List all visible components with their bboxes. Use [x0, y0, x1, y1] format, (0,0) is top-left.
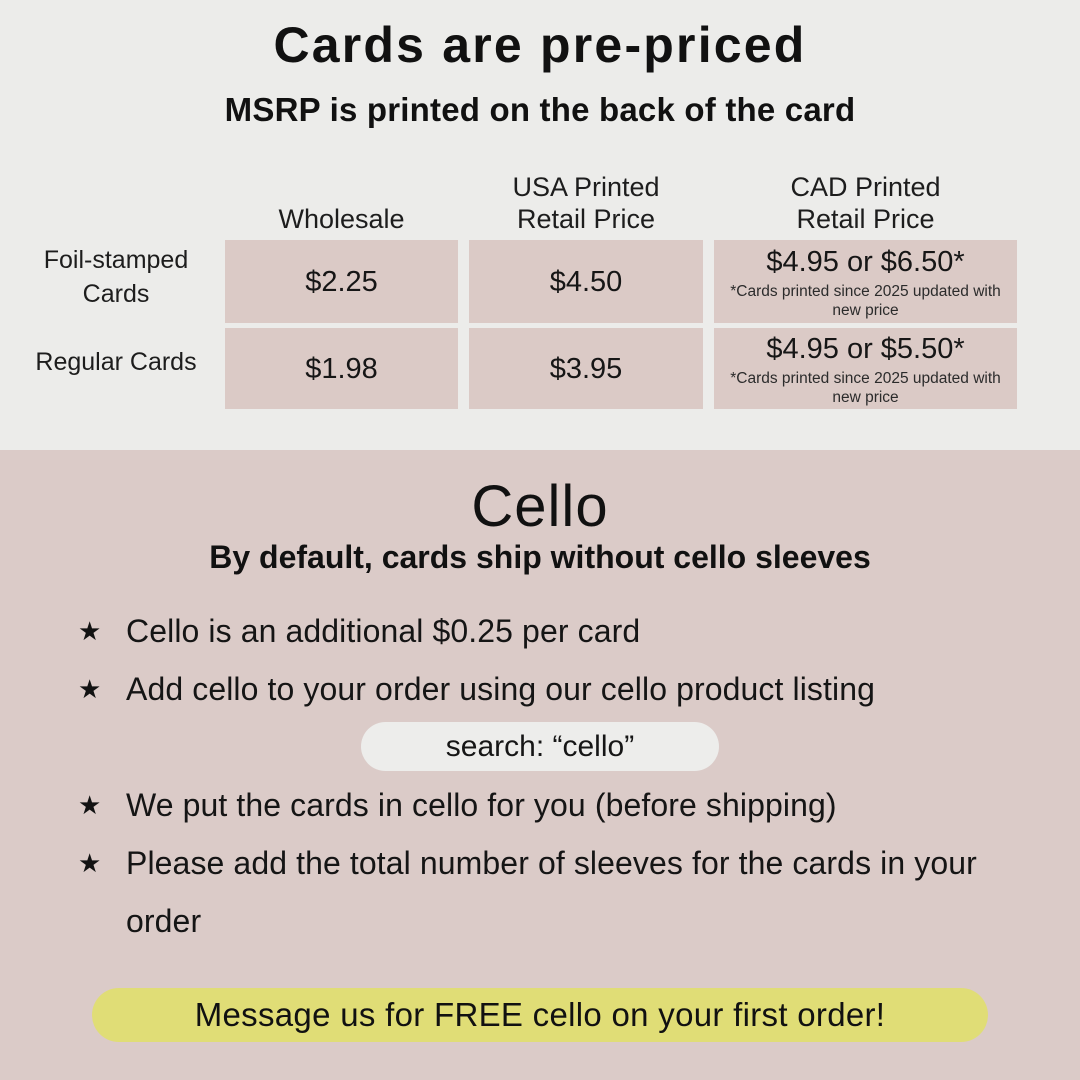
row-label-regular-cards: Regular Cards — [18, 345, 214, 379]
list-item-label: We put the cards in cello for you (befor… — [126, 776, 1018, 834]
table-cell-regular-wholesale: $1.98 — [225, 328, 458, 409]
table-cell-regular-cad-retail: $4.95 or $5.50* *Cards printed since 202… — [714, 328, 1017, 409]
column-header-cad-retail: CAD Printed Retail Price — [714, 171, 1017, 235]
column-header-cad-line2: Retail Price — [714, 203, 1017, 235]
price-value: $2.25 — [305, 263, 378, 301]
list-item-label: Please add the total number of sleeves f… — [126, 834, 1018, 950]
star-icon: ★ — [78, 660, 126, 718]
column-header-wholesale: Wholesale — [225, 203, 458, 235]
price-value: $4.95 or $6.50* — [766, 243, 964, 281]
cta-label: Message us for FREE cello on your first … — [195, 995, 886, 1035]
pricing-and-cello-infographic: Cards are pre-priced MSRP is printed on … — [0, 0, 1080, 1080]
page-subtitle: MSRP is printed on the back of the card — [0, 88, 1080, 132]
row-label-foil-line1: Foil-stamped — [18, 243, 214, 277]
star-icon: ★ — [78, 602, 126, 660]
pricing-section: Cards are pre-priced MSRP is printed on … — [0, 0, 1080, 450]
price-value: $4.95 or $5.50* — [766, 330, 964, 368]
star-icon: ★ — [78, 776, 126, 834]
message-us-cta-button[interactable]: Message us for FREE cello on your first … — [92, 988, 988, 1042]
search-hint-pill[interactable]: search: “cello” — [361, 722, 719, 771]
column-header-usa-line1: USA Printed — [469, 171, 703, 203]
row-label-regular-line1: Regular Cards — [18, 345, 214, 379]
table-cell-foil-cad-retail: $4.95 or $6.50* *Cards printed since 202… — [714, 240, 1017, 323]
column-header-usa-line2: Retail Price — [469, 203, 703, 235]
column-header-usa-retail: USA Printed Retail Price — [469, 171, 703, 235]
list-item: ★ Add cello to your order using our cell… — [78, 660, 1018, 718]
price-footnote: *Cards printed since 2025 updated with n… — [726, 369, 1006, 407]
list-item-label: Cello is an additional $0.25 per card — [126, 602, 1018, 660]
list-item: ★ Please add the total number of sleeves… — [78, 834, 1018, 950]
cello-title: Cello — [0, 472, 1080, 542]
price-value: $3.95 — [550, 350, 623, 388]
search-hint-label: search: “cello” — [446, 730, 634, 764]
cello-section: Cello By default, cards ship without cel… — [0, 450, 1080, 1080]
page-title: Cards are pre-priced — [0, 14, 1080, 76]
list-item: ★ Cello is an additional $0.25 per card — [78, 602, 1018, 660]
column-header-cad-line1: CAD Printed — [714, 171, 1017, 203]
row-label-foil-stamped-cards: Foil-stamped Cards — [18, 243, 214, 311]
star-icon: ★ — [78, 834, 126, 892]
cello-bullet-list: ★ Cello is an additional $0.25 per card … — [78, 602, 1018, 950]
price-value: $1.98 — [305, 350, 378, 388]
price-value: $4.50 — [550, 263, 623, 301]
row-label-foil-line2: Cards — [18, 277, 214, 311]
table-cell-foil-usa-retail: $4.50 — [469, 240, 703, 323]
list-item: ★ We put the cards in cello for you (bef… — [78, 776, 1018, 834]
price-footnote: *Cards printed since 2025 updated with n… — [726, 282, 1006, 320]
table-cell-regular-usa-retail: $3.95 — [469, 328, 703, 409]
cello-subtitle: By default, cards ship without cello sle… — [0, 535, 1080, 579]
list-item-label: Add cello to your order using our cello … — [126, 660, 1018, 718]
column-header-wholesale-line1: Wholesale — [225, 203, 458, 235]
table-cell-foil-wholesale: $2.25 — [225, 240, 458, 323]
